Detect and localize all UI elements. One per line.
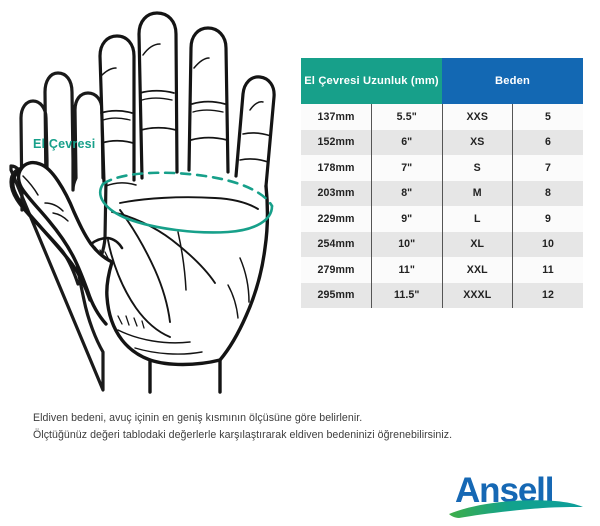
finger-base-fold-index: [106, 183, 136, 186]
table-row: 152mm 6" XS 6: [301, 130, 583, 156]
cell-mm: 203mm: [301, 181, 372, 207]
cell-mm: 295mm: [301, 283, 372, 309]
cell-inch: 11": [372, 257, 443, 283]
cell-inch: 5.5": [372, 104, 443, 130]
hand-palm-diagram: [0, 0, 300, 400]
cell-num: 12: [513, 283, 584, 309]
header-hand-circumference: El Çevresi Uzunluk (mm): [301, 58, 442, 104]
palm-bottom-fold-2: [135, 348, 202, 354]
instructions-line-2: Ölçtüğünüz değeri tablodaki değerlerle k…: [33, 427, 573, 444]
circumference-solid-half: [100, 184, 272, 232]
table-row: 295mm 11.5" XXXL 12: [301, 283, 583, 309]
palm-edge-fold: [240, 258, 249, 302]
header-size: Beden: [442, 58, 583, 104]
cell-mm: 178mm: [301, 155, 372, 181]
palm-crease-fate: [178, 232, 186, 290]
cell-num: 11: [513, 257, 584, 283]
finger-little: [236, 77, 274, 186]
cell-size: S: [442, 155, 513, 181]
instructions-line-1: Eldiven bedeni, avuç içinin en geniş kıs…: [33, 410, 573, 427]
palm-small-fold-c: [134, 318, 137, 326]
palm-small-fold-b: [126, 316, 129, 325]
cell-inch: 9": [372, 206, 443, 232]
hand-circumference-label: El Çevresi: [33, 137, 95, 151]
palm-bottom-fold-1: [118, 330, 190, 343]
finger-ring: [189, 28, 228, 172]
cell-num: 9: [513, 206, 584, 232]
finger-middle: [139, 13, 177, 178]
cell-mm: 137mm: [301, 104, 372, 130]
table-row: 137mm 5.5" XXS 5: [301, 104, 583, 130]
wrist-line: [150, 360, 220, 365]
table-row: 229mm 9" L 9: [301, 206, 583, 232]
table-row: 203mm 8" M 8: [301, 181, 583, 207]
cell-size: XXL: [442, 257, 513, 283]
cell-num: 8: [513, 181, 584, 207]
cell-num: 6: [513, 130, 584, 156]
ansell-logo: Ansell: [443, 468, 588, 520]
palm-crease-heart: [120, 197, 258, 209]
palm-small-fold-a: [118, 316, 122, 324]
palm-small-fold-d: [142, 321, 144, 328]
glove-size-table: El Çevresi Uzunluk (mm) Beden 137mm 5.5"…: [301, 58, 583, 308]
cell-size: XL: [442, 232, 513, 258]
cell-inch: 10": [372, 232, 443, 258]
cell-size: M: [442, 181, 513, 207]
finger-index: [100, 36, 134, 182]
cell-inch: 6": [372, 130, 443, 156]
cell-size: XXXL: [442, 283, 513, 309]
cell-size: XXS: [442, 104, 513, 130]
table-row: 178mm 7" S 7: [301, 155, 583, 181]
cell-num: 7: [513, 155, 584, 181]
palm-edge-fold-2: [228, 285, 238, 318]
cell-size: L: [442, 206, 513, 232]
cell-inch: 7": [372, 155, 443, 181]
palm-right-outline: [220, 186, 267, 392]
palm-crease-head: [112, 212, 215, 283]
cell-size: XS: [442, 130, 513, 156]
cell-num: 10: [513, 232, 584, 258]
instructions-text: Eldiven bedeni, avuç içinin en geniş kıs…: [33, 410, 573, 444]
table-body: 137mm 5.5" XXS 5 152mm 6" XS 6 178mm 7" …: [301, 104, 583, 308]
palm-thenar-fold: [108, 240, 170, 337]
cell-inch: 11.5": [372, 283, 443, 309]
cell-inch: 8": [372, 181, 443, 207]
cell-mm: 279mm: [301, 257, 372, 283]
cell-mm: 229mm: [301, 206, 372, 232]
table-row: 254mm 10" XL 10: [301, 232, 583, 258]
hand-drawing: [13, 13, 274, 392]
cell-num: 5: [513, 104, 584, 130]
table-row: 279mm 11" XXL 11: [301, 257, 583, 283]
table-header-row: El Çevresi Uzunluk (mm) Beden: [301, 58, 583, 104]
cell-mm: 152mm: [301, 130, 372, 156]
cell-mm: 254mm: [301, 232, 372, 258]
